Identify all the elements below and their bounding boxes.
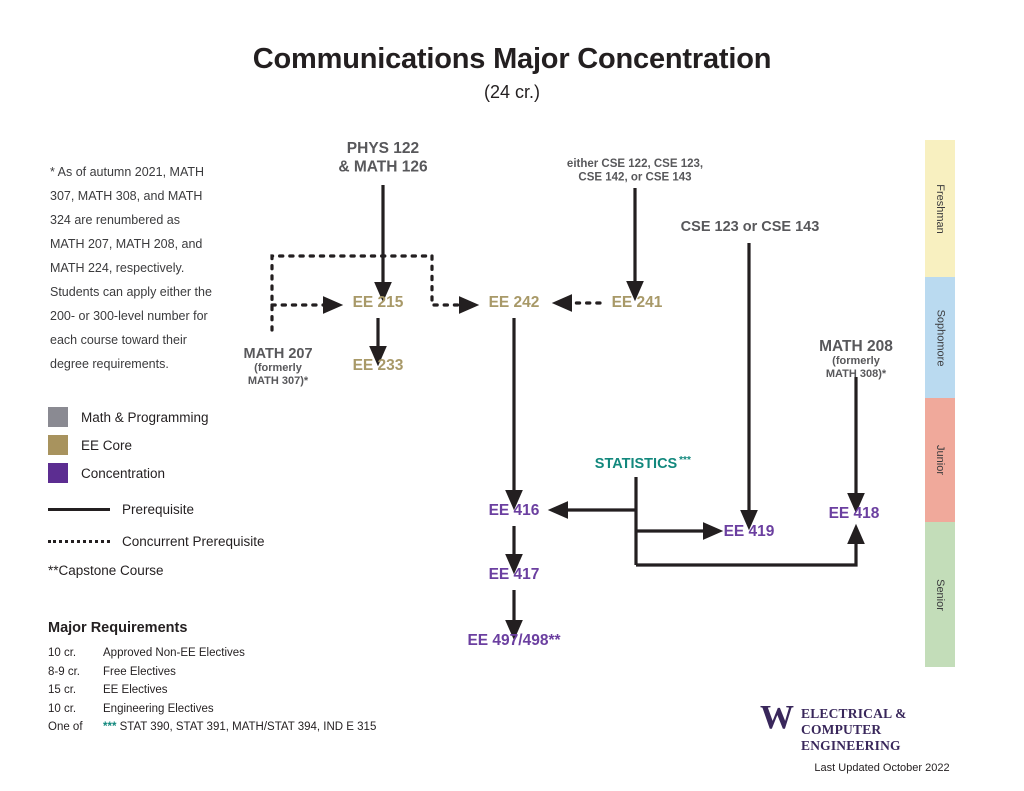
flow-node-cse123_143: CSE 123 or CSE 143 [681, 219, 820, 235]
flow-node-ee419: EE 419 [724, 523, 775, 540]
svg-text:EE 242: EE 242 [489, 294, 540, 311]
svg-text:STATISTICS: STATISTICS [595, 456, 678, 472]
svg-text:EE 233: EE 233 [353, 357, 404, 374]
svg-text:EE 241: EE 241 [612, 294, 663, 311]
flow-nodes: PHYS 122& MATH 126either CSE 122, CSE 12… [243, 140, 893, 649]
flow-node-line: EE 497/498** [467, 632, 561, 649]
flow-node-line: EE 419 [724, 523, 775, 540]
svg-text:EE 419: EE 419 [724, 523, 775, 540]
edge-math207-ee215-concurrent [272, 256, 432, 330]
svg-text:(formerlyMATH 308)*: (formerlyMATH 308)* [826, 355, 887, 380]
svg-text:CSE 123 or CSE 143: CSE 123 or CSE 143 [681, 219, 820, 235]
svg-text:EE 416: EE 416 [489, 502, 540, 519]
flow-node-ee242: EE 242 [489, 294, 540, 311]
flow-node-line: MATH 208 [819, 338, 893, 355]
flow-node-line: CSE 142, or CSE 143 [578, 172, 691, 184]
flow-node-statistics: STATISTICS*** [595, 455, 691, 472]
flow-node-line: MATH 307)* [248, 375, 309, 387]
flow-node-line: MATH 308)* [826, 368, 887, 380]
flow-node-ee215: EE 215 [353, 294, 404, 311]
svg-text:EE 418: EE 418 [829, 505, 880, 522]
flow-node-phys122: PHYS 122& MATH 126 [338, 140, 428, 175]
flow-node-cse_either: either CSE 122, CSE 123,CSE 142, or CSE … [567, 158, 703, 184]
flow-node-line: EE 418 [829, 505, 880, 522]
flow-node-ee241: EE 241 [612, 294, 663, 311]
statistics-asterisks: *** [679, 455, 691, 466]
diagram-page: Communications Major Concentration (24 c… [0, 0, 1024, 791]
flow-node-line: CSE 123 or CSE 143 [681, 219, 820, 235]
flow-node-ee418: EE 418 [829, 505, 880, 522]
flow-node-line: EE 242 [489, 294, 540, 311]
edge-concurrent-into-ee242 [432, 256, 469, 305]
svg-text:EE 417: EE 417 [489, 566, 540, 583]
flow-node-ee417: EE 417 [489, 566, 540, 583]
flow-node-line: EE 233 [353, 357, 404, 374]
flow-node-line: EE 241 [612, 294, 663, 311]
flow-node-line: EE 416 [489, 502, 540, 519]
flow-node-math207: MATH 207 [243, 346, 312, 362]
svg-text:EE 215: EE 215 [353, 294, 404, 311]
svg-text:either CSE 122, CSE 123,CSE 14: either CSE 122, CSE 123,CSE 142, or CSE … [567, 158, 703, 184]
flow-edges [272, 185, 856, 630]
flow-node-ee497: EE 497/498** [467, 632, 561, 649]
flow-node-line: STATISTICS [595, 456, 678, 472]
flow-node-line: (formerly [832, 355, 881, 367]
course-flowchart: PHYS 122& MATH 126either CSE 122, CSE 12… [0, 0, 1024, 791]
svg-text:MATH 208: MATH 208 [819, 338, 893, 355]
flow-node-math208: MATH 208 [819, 338, 893, 355]
flow-node-line: either CSE 122, CSE 123, [567, 158, 703, 170]
flow-node-line: (formerly [254, 362, 303, 374]
flow-node-ee416: EE 416 [489, 502, 540, 519]
flow-node-line: MATH 207 [243, 346, 312, 362]
svg-text:PHYS 122& MATH 126: PHYS 122& MATH 126 [338, 140, 428, 175]
svg-text:MATH 207: MATH 207 [243, 346, 312, 362]
svg-text:EE 497/498**: EE 497/498** [467, 632, 561, 649]
flow-node-math207_sub: (formerlyMATH 307)* [248, 362, 309, 387]
flow-node-ee233: EE 233 [353, 357, 404, 374]
svg-text:(formerlyMATH 307)*: (formerlyMATH 307)* [248, 362, 309, 387]
flow-node-math208_sub: (formerlyMATH 308)* [826, 355, 887, 380]
flow-node-line: PHYS 122 [347, 140, 419, 157]
flow-node-line: EE 215 [353, 294, 404, 311]
flow-node-line: EE 417 [489, 566, 540, 583]
flow-node-line: & MATH 126 [338, 158, 428, 175]
